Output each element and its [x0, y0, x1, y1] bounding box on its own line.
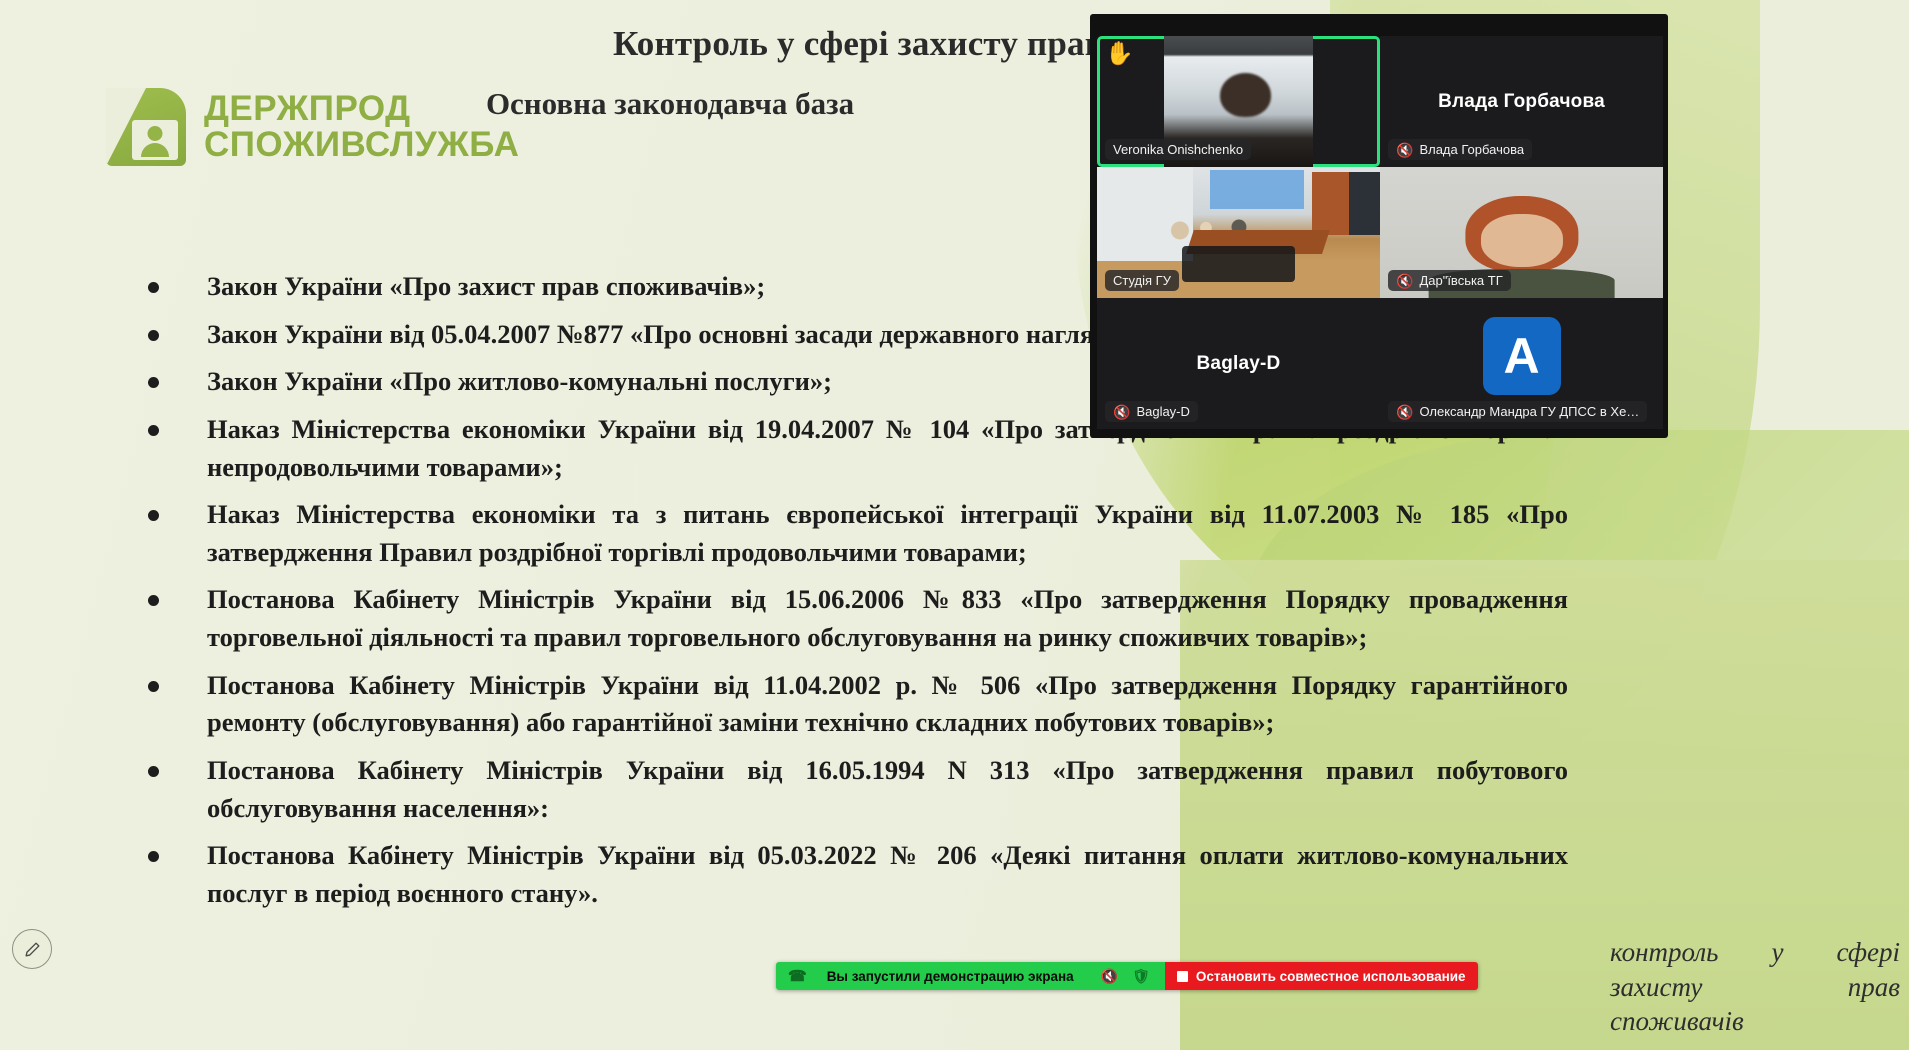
participant-tile-darivska-th[interactable]: 🔇 Дар"ївська ТГ	[1380, 167, 1663, 298]
participant-tile-vlada-horbachova[interactable]: Влада Горбачова 🔇 Влада Горбачова	[1380, 36, 1663, 167]
list-item-text: Постанова Кабінету Міністрів України від…	[207, 581, 1568, 656]
participant-name-chip: 🔇 Влада Горбачова	[1388, 139, 1532, 160]
participant-name: Baglay-D	[1136, 404, 1189, 419]
video-detail	[1349, 172, 1380, 235]
list-item-text: Постанова Кабінету Міністрів України від…	[207, 837, 1568, 912]
participant-name-chip: Студія ГУ	[1105, 270, 1179, 291]
participant-tile-veronika-onishchenko[interactable]: ✋ Veronika Onishchenko	[1097, 36, 1380, 167]
raised-hand-icon: ✋	[1105, 42, 1134, 65]
list-item: Наказ Міністерства економіки та з питань…	[148, 496, 1568, 571]
list-item: Постанова Кабінету Міністрів України від…	[148, 752, 1568, 827]
bullet-dot-icon	[148, 330, 159, 341]
bullet-dot-icon	[148, 766, 159, 777]
microphone-muted-icon: 🔇	[1113, 405, 1130, 419]
stop-square-icon	[1177, 971, 1188, 982]
microphone-muted-icon: 🔇	[1396, 274, 1413, 288]
microphone-muted-icon[interactable]: 🔇	[1101, 969, 1118, 983]
bullet-dot-icon	[148, 681, 159, 692]
participant-name-chip: 🔇 Дар"ївська ТГ	[1388, 270, 1511, 291]
list-item: Постанова Кабінету Міністрів України від…	[148, 667, 1568, 742]
share-status-area: ☎ Вы запустили демонстрацию экрана 🔇 🛡	[776, 962, 1165, 990]
bullet-dot-icon	[148, 851, 159, 862]
microphone-muted-icon: 🔇	[1396, 405, 1413, 419]
participant-tile-oleksandr-mandra[interactable]: A 🔇 Олександр Мандра ГУ ДПСС в Хе…	[1380, 298, 1663, 429]
bullet-dot-icon	[148, 282, 159, 293]
annotate-pencil-button[interactable]	[12, 929, 52, 969]
share-status-text: Вы запустили демонстрацию экрана	[817, 969, 1094, 984]
participants-grid: ✋ Veronika Onishchenko Влада Горбачова 🔇…	[1097, 36, 1663, 429]
screen-share-bar: ☎ Вы запустили демонстрацию экрана 🔇 🛡 О…	[776, 962, 1478, 990]
logo-line-2: СПОЖИВСЛУЖБА	[204, 127, 519, 163]
phone-icon: ☎	[788, 967, 807, 985]
list-item: Постанова Кабінету Міністрів України від…	[148, 581, 1568, 656]
bullet-dot-icon	[148, 510, 159, 521]
participant-name: Студія ГУ	[1113, 273, 1171, 288]
video-detail	[1210, 170, 1303, 209]
microphone-muted-icon: 🔇	[1396, 143, 1413, 157]
pencil-icon	[23, 940, 42, 959]
participant-name: Олександр Мандра ГУ ДПСС в Хе…	[1419, 404, 1639, 419]
participant-name-chip: 🔇 Олександр Мандра ГУ ДПСС в Хе…	[1388, 401, 1647, 422]
list-item-text: Постанова Кабінету Міністрів України від…	[207, 752, 1568, 827]
side-caption-text: контроль у сфері захисту прав споживачів	[1610, 935, 1900, 1039]
list-item-text: Постанова Кабінету Міністрів України від…	[207, 667, 1568, 742]
participant-tile-studiia-hu[interactable]: Студія ГУ	[1097, 167, 1380, 298]
logo-person-card-icon	[132, 120, 178, 160]
bullet-dot-icon	[148, 377, 159, 388]
list-item-text: Наказ Міністерства економіки та з питань…	[207, 496, 1568, 571]
avatar: A	[1483, 317, 1561, 395]
participant-name: Влада Горбачова	[1419, 142, 1524, 157]
shield-icon[interactable]: 🛡	[1132, 969, 1150, 983]
participant-name: Veronika Onishchenko	[1113, 142, 1243, 157]
stop-sharing-label: Остановить совместное использование	[1196, 969, 1466, 984]
participant-name: Дар"ївська ТГ	[1419, 273, 1502, 288]
bullet-dot-icon	[148, 595, 159, 606]
screen: ДЕРЖПРОД СПОЖИВСЛУЖБА Контроль у сфері з…	[0, 0, 1909, 1050]
participant-name-chip: Veronika Onishchenko	[1105, 139, 1251, 160]
video-detail	[1480, 214, 1562, 266]
video-detail	[1182, 246, 1295, 283]
participant-tile-baglay-d[interactable]: Baglay-D 🔇 Baglay-D	[1097, 298, 1380, 429]
participant-name-chip: 🔇 Baglay-D	[1105, 401, 1198, 422]
video-participants-panel[interactable]: ✋ Veronika Onishchenko Влада Горбачова 🔇…	[1090, 14, 1668, 438]
list-item: Постанова Кабінету Міністрів України від…	[148, 837, 1568, 912]
bullet-dot-icon	[148, 425, 159, 436]
stop-sharing-button[interactable]: Остановить совместное использование	[1165, 962, 1478, 990]
